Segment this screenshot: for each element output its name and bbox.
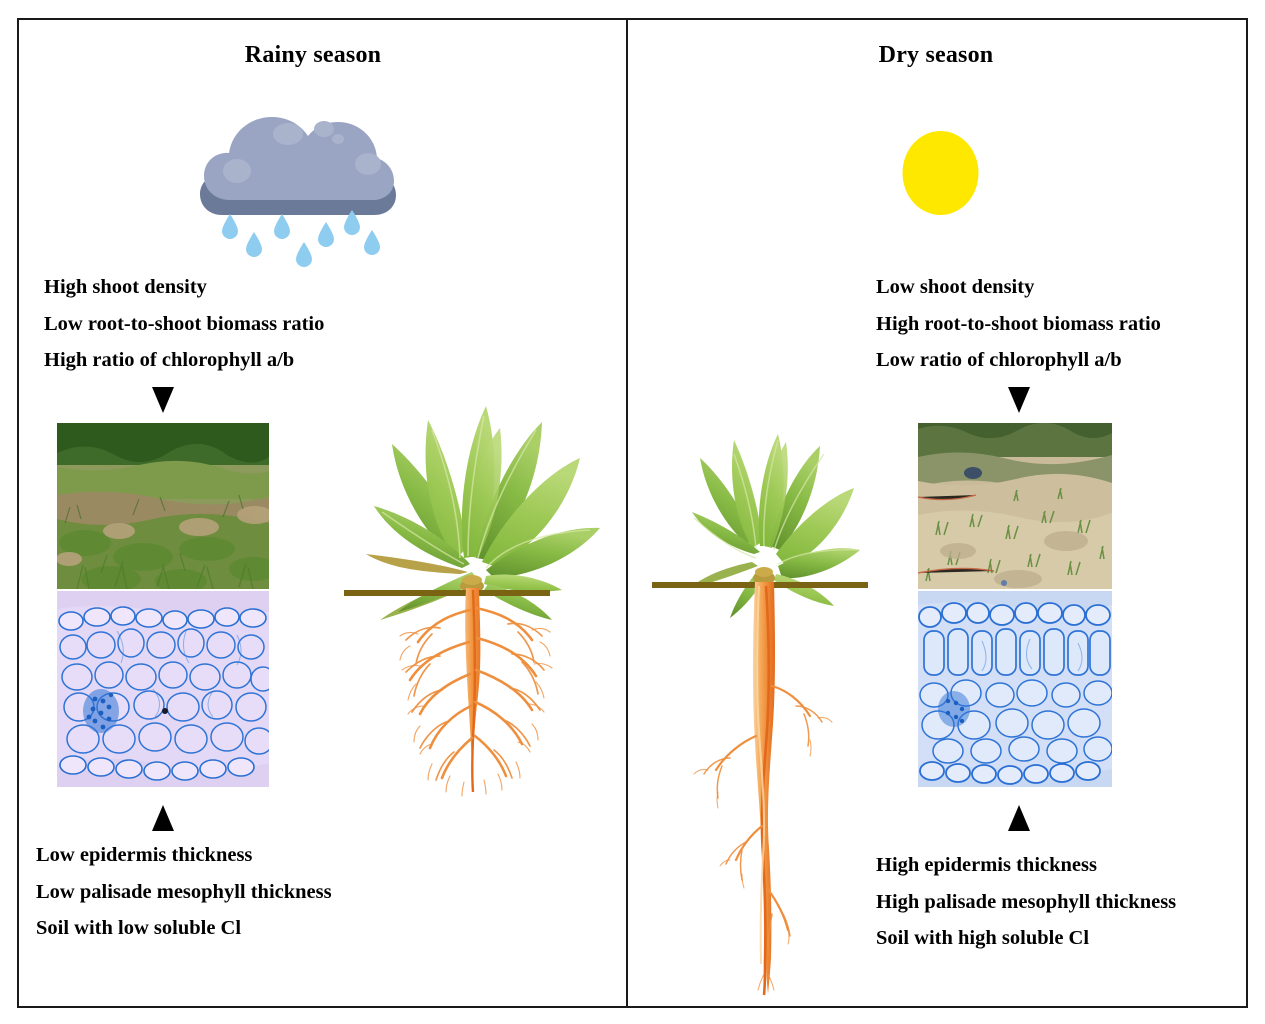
trait-item: Low ratio of chlorophyll a/b bbox=[876, 350, 1161, 371]
field-photo-dry bbox=[918, 423, 1112, 589]
panel-title-dry: Dry season bbox=[626, 42, 1246, 69]
trait-item: Low palisade mesophyll thickness bbox=[36, 882, 332, 903]
rain-cloud-icon bbox=[192, 96, 402, 266]
trait-item: High shoot density bbox=[44, 277, 324, 298]
arrow-up-icon bbox=[152, 805, 174, 831]
season-comparison-figure: Rainy season Dry season bbox=[0, 0, 1265, 1024]
trait-item: Soil with low soluble Cl bbox=[36, 918, 332, 939]
plant-dry bbox=[648, 418, 898, 998]
arrow-down-icon bbox=[1008, 387, 1030, 413]
trait-item: High palisade mesophyll thickness bbox=[876, 892, 1176, 913]
trait-item: High ratio of chlorophyll a/b bbox=[44, 350, 324, 371]
arrow-up-icon bbox=[1008, 805, 1030, 831]
trait-list-rainy-bottom: Low epidermis thickness Low palisade mes… bbox=[36, 845, 332, 955]
plant-rainy bbox=[336, 358, 636, 818]
trait-item: Low epidermis thickness bbox=[36, 845, 332, 866]
arrow-down-icon bbox=[152, 387, 174, 413]
trait-item: Soil with high soluble Cl bbox=[876, 928, 1176, 949]
leaf-micrograph-dry bbox=[918, 591, 1112, 787]
trait-item: High epidermis thickness bbox=[876, 855, 1176, 876]
panel-title-rainy: Rainy season bbox=[0, 42, 626, 69]
sun-icon bbox=[848, 84, 1033, 262]
trait-item: Low shoot density bbox=[876, 277, 1161, 298]
trait-list-rainy-top: High shoot density Low root-to-shoot bio… bbox=[44, 277, 324, 387]
trait-item: Low root-to-shoot biomass ratio bbox=[44, 314, 324, 335]
trait-list-dry-top: Low shoot density High root-to-shoot bio… bbox=[876, 277, 1161, 387]
trait-item: High root-to-shoot biomass ratio bbox=[876, 314, 1161, 335]
trait-list-dry-bottom: High epidermis thickness High palisade m… bbox=[876, 855, 1176, 965]
field-photo-rainy bbox=[57, 423, 269, 589]
leaf-micrograph-rainy bbox=[57, 591, 269, 787]
